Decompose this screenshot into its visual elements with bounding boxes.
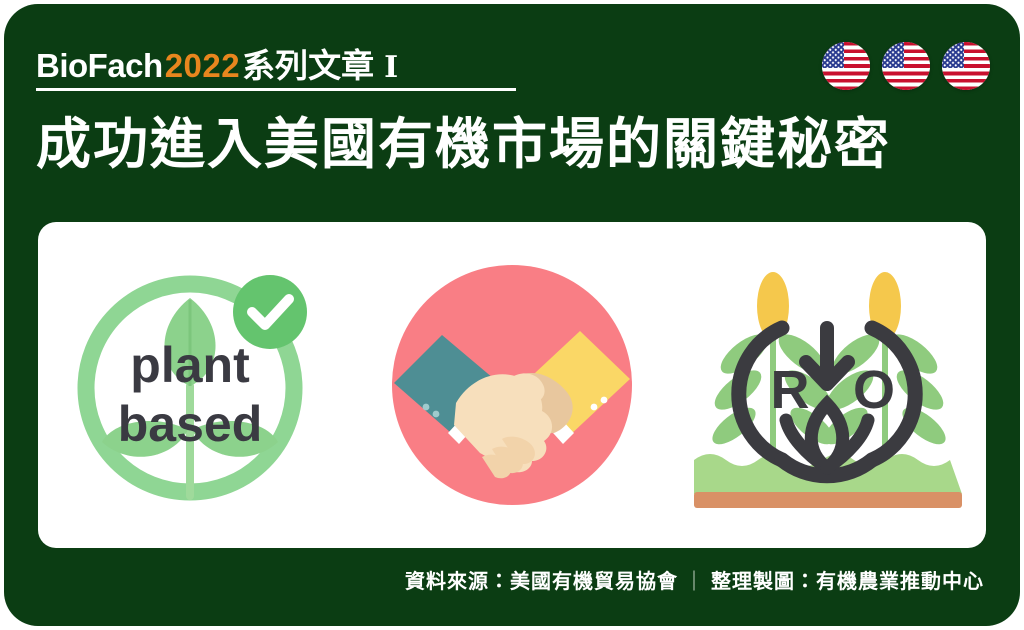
credit-separator: ｜ bbox=[678, 569, 711, 593]
plant-based-line1: plant bbox=[130, 337, 250, 393]
letter-o: O bbox=[853, 360, 895, 420]
flag-canton bbox=[882, 42, 904, 68]
source-label: 資料來源：美國有機貿易協會 bbox=[405, 569, 678, 593]
kicker-line: BioFach2022系列文章Ⅰ bbox=[36, 47, 399, 84]
credit-label: 整理製圖：有機農業推動中心 bbox=[711, 569, 984, 593]
plant-based-badge: plant based bbox=[51, 251, 341, 519]
soil-band bbox=[694, 492, 962, 508]
letter-r: R bbox=[771, 360, 810, 420]
handshake-svg bbox=[384, 257, 640, 513]
united-states-flag-icon bbox=[942, 42, 990, 90]
series-label: 系列文章 bbox=[242, 46, 374, 85]
check-badge bbox=[233, 275, 307, 349]
plant-based-svg: plant based bbox=[62, 254, 330, 516]
united-states-flag-icon bbox=[882, 42, 930, 90]
united-states-flag-icon bbox=[822, 42, 870, 90]
poster-canvas: BioFach2022系列文章Ⅰ 成功進入美國有機市場的關鍵秘密 bbox=[0, 0, 1024, 630]
icon-card: plant based bbox=[38, 222, 986, 548]
part-numeral: Ⅰ bbox=[374, 51, 399, 84]
page-title: 成功進入美國有機市場的關鍵秘密 bbox=[36, 114, 891, 176]
kicker-underline-wrap: BioFach2022系列文章Ⅰ bbox=[36, 48, 516, 91]
year-label: 2022 bbox=[163, 47, 242, 84]
flag-canton bbox=[822, 42, 844, 68]
brand-name: BioFach bbox=[36, 47, 163, 84]
green-panel: BioFach2022系列文章Ⅰ 成功進入美國有機市場的關鍵秘密 bbox=[4, 4, 1020, 626]
plant-based-line2: based bbox=[118, 396, 263, 452]
regenerative-organic-svg: R O bbox=[694, 254, 962, 516]
footer-credit: 資料來源：美國有機貿易協會｜整理製圖：有機農業推動中心 bbox=[405, 565, 984, 594]
regenerative-organic-icon: R O bbox=[683, 251, 973, 519]
handshake-icon bbox=[367, 251, 657, 519]
header: BioFach2022系列文章Ⅰ 成功進入美國有機市場的關鍵秘密 bbox=[4, 4, 1020, 214]
flag-group bbox=[822, 42, 990, 90]
flag-canton bbox=[942, 42, 964, 68]
